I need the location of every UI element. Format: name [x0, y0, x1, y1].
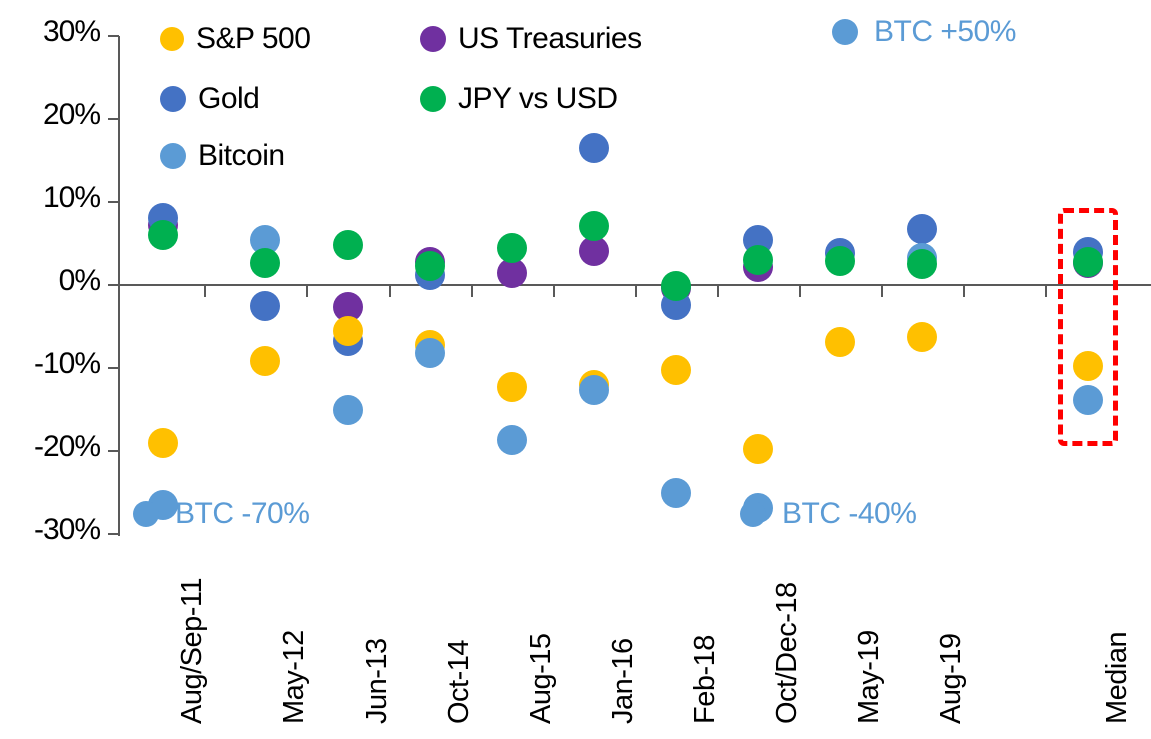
data-point	[661, 478, 691, 508]
x-axis-tick	[306, 286, 308, 297]
annotation-btc-plus-50: BTC +50%	[832, 15, 1016, 49]
data-point	[333, 316, 363, 346]
data-point	[497, 233, 527, 263]
y-axis-tick-label: 20%	[0, 98, 100, 132]
x-axis-label: Aug-15	[525, 633, 558, 724]
data-point	[148, 428, 178, 458]
annotation-btc-plus-50-label: BTC +50%	[874, 15, 1016, 49]
y-axis-tick	[108, 35, 119, 37]
y-axis-tick-label: -30%	[0, 513, 100, 547]
x-axis-tick	[635, 286, 637, 297]
data-point	[743, 434, 773, 464]
data-point	[497, 425, 527, 455]
legend-label: Bitcoin	[198, 139, 285, 173]
y-axis-tick	[108, 533, 119, 535]
data-point	[333, 230, 363, 260]
legend-swatch-icon	[420, 26, 446, 52]
legend-item-us-treasuries[interactable]: US Treasuries	[420, 22, 642, 56]
data-point	[825, 246, 855, 276]
data-point	[907, 214, 937, 244]
legend-item-s-p-500[interactable]: S&P 500	[160, 22, 310, 56]
data-point	[825, 327, 855, 357]
annotation-btc-minus-70-label: BTC -70%	[175, 497, 309, 531]
data-point	[907, 322, 937, 352]
y-axis-tick-label: 0%	[0, 264, 100, 298]
bitcoin-dot-icon	[133, 501, 159, 527]
data-point	[250, 291, 280, 321]
y-axis-tick	[108, 201, 119, 203]
legend-swatch-icon	[160, 86, 186, 112]
annotation-btc-minus-70: BTC -70%	[133, 497, 309, 531]
x-axis-label: Oct/Dec-18	[771, 582, 804, 724]
x-axis-tick	[553, 286, 555, 297]
bitcoin-dot-icon	[740, 501, 766, 527]
y-axis-tick-label: -20%	[0, 430, 100, 464]
data-point	[661, 355, 691, 385]
y-axis-tick	[108, 450, 119, 452]
legend-item-gold[interactable]: Gold	[160, 82, 259, 116]
y-axis-tick-label: 10%	[0, 181, 100, 215]
x-axis-label: May-19	[853, 630, 886, 724]
data-point	[579, 375, 609, 405]
x-axis-label: Median	[1101, 632, 1134, 724]
legend-label: Gold	[198, 82, 259, 116]
data-point	[907, 249, 937, 279]
legend-label: JPY vs USD	[458, 82, 618, 116]
x-axis-label: Jun-13	[361, 638, 394, 724]
x-axis-tick	[1045, 286, 1047, 297]
x-axis-tick	[963, 286, 965, 297]
scatter-chart: 30%20%10%0%-10%-20%-30% Aug/Sep-11May-12…	[0, 0, 1151, 739]
legend-swatch-icon	[420, 86, 446, 112]
x-axis-label: Jan-16	[607, 638, 640, 724]
data-point	[579, 133, 609, 163]
data-point	[333, 395, 363, 425]
legend-label: US Treasuries	[458, 22, 642, 56]
data-point	[415, 251, 445, 281]
data-point	[743, 245, 773, 275]
x-axis-tick	[389, 286, 391, 297]
bitcoin-dot-icon	[832, 19, 858, 45]
x-axis-tick	[799, 286, 801, 297]
data-point	[148, 220, 178, 250]
legend-swatch-icon	[160, 143, 186, 169]
x-axis-label: Aug/Sep-11	[176, 578, 209, 724]
x-axis-label: Oct-14	[443, 640, 476, 724]
data-point	[250, 346, 280, 376]
y-axis-tick	[108, 118, 119, 120]
y-axis-line	[118, 36, 120, 536]
legend-item-bitcoin[interactable]: Bitcoin	[160, 139, 285, 173]
y-axis-tick	[108, 367, 119, 369]
data-point	[1073, 247, 1103, 277]
x-axis-tick	[717, 286, 719, 297]
data-point	[579, 211, 609, 241]
data-point	[250, 248, 280, 278]
annotation-btc-minus-40: BTC -40%	[740, 497, 916, 531]
legend-swatch-icon	[160, 27, 184, 51]
legend-item-jpy-vs-usd[interactable]: JPY vs USD	[420, 82, 618, 116]
x-axis-label: May-12	[278, 630, 311, 724]
legend-label: S&P 500	[196, 22, 310, 56]
x-axis-tick	[471, 286, 473, 297]
data-point	[1073, 385, 1103, 415]
x-axis-label: Aug-19	[935, 633, 968, 724]
data-point	[661, 271, 691, 301]
data-point	[415, 338, 445, 368]
x-axis-tick	[204, 286, 206, 297]
y-axis-tick-label: 30%	[0, 15, 100, 49]
annotation-btc-minus-40-label: BTC -40%	[782, 497, 916, 531]
x-axis-label: Feb-18	[689, 635, 722, 724]
y-axis-tick-label: -10%	[0, 347, 100, 381]
y-axis-tick	[108, 284, 119, 286]
data-point	[497, 372, 527, 402]
x-axis-tick	[881, 286, 883, 297]
